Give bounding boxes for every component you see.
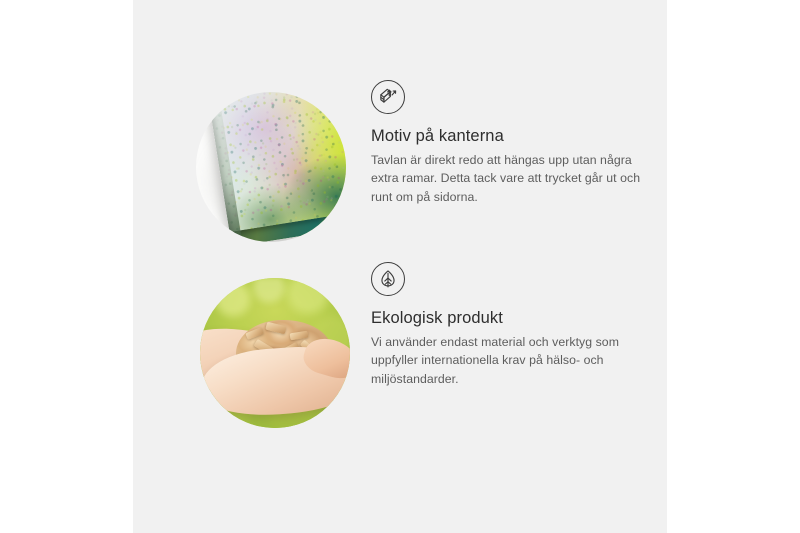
feature-block-motiv-pa-kanterna: Motiv på kanterna Tavlan är direkt redo … <box>133 80 667 260</box>
leaf-icon <box>371 262 405 296</box>
feature-block-ekologisk-produkt: Ekologisk produkt Vi använder endast mat… <box>133 262 667 442</box>
content-panel: Motiv på kanterna Tavlan är direkt redo … <box>133 0 667 533</box>
hands-holding-wood-chips-photo <box>200 278 350 428</box>
canvas-print-corner-photo <box>196 92 346 242</box>
wrapped-canvas-edge-icon <box>371 80 405 114</box>
feature-title: Ekologisk produkt <box>371 308 661 329</box>
feature-description: Tavlan är direkt redo att hängas upp uta… <box>371 151 649 207</box>
infographic-stage: Motiv på kanterna Tavlan är direkt redo … <box>0 0 800 533</box>
feature-title: Motiv på kanterna <box>371 126 661 147</box>
wood-chip <box>265 322 286 335</box>
wood-chip <box>290 331 309 341</box>
feature-text-column-1: Motiv på kanterna Tavlan är direkt redo … <box>371 80 661 207</box>
canvas-print-board <box>208 92 346 242</box>
feature-description: Vi använder endast material och verktyg … <box>371 333 649 389</box>
eco-photo-background <box>200 278 350 428</box>
feature-text-column-2: Ekologisk produkt Vi använder endast mat… <box>371 262 661 389</box>
canvas-photo-background <box>196 92 346 242</box>
